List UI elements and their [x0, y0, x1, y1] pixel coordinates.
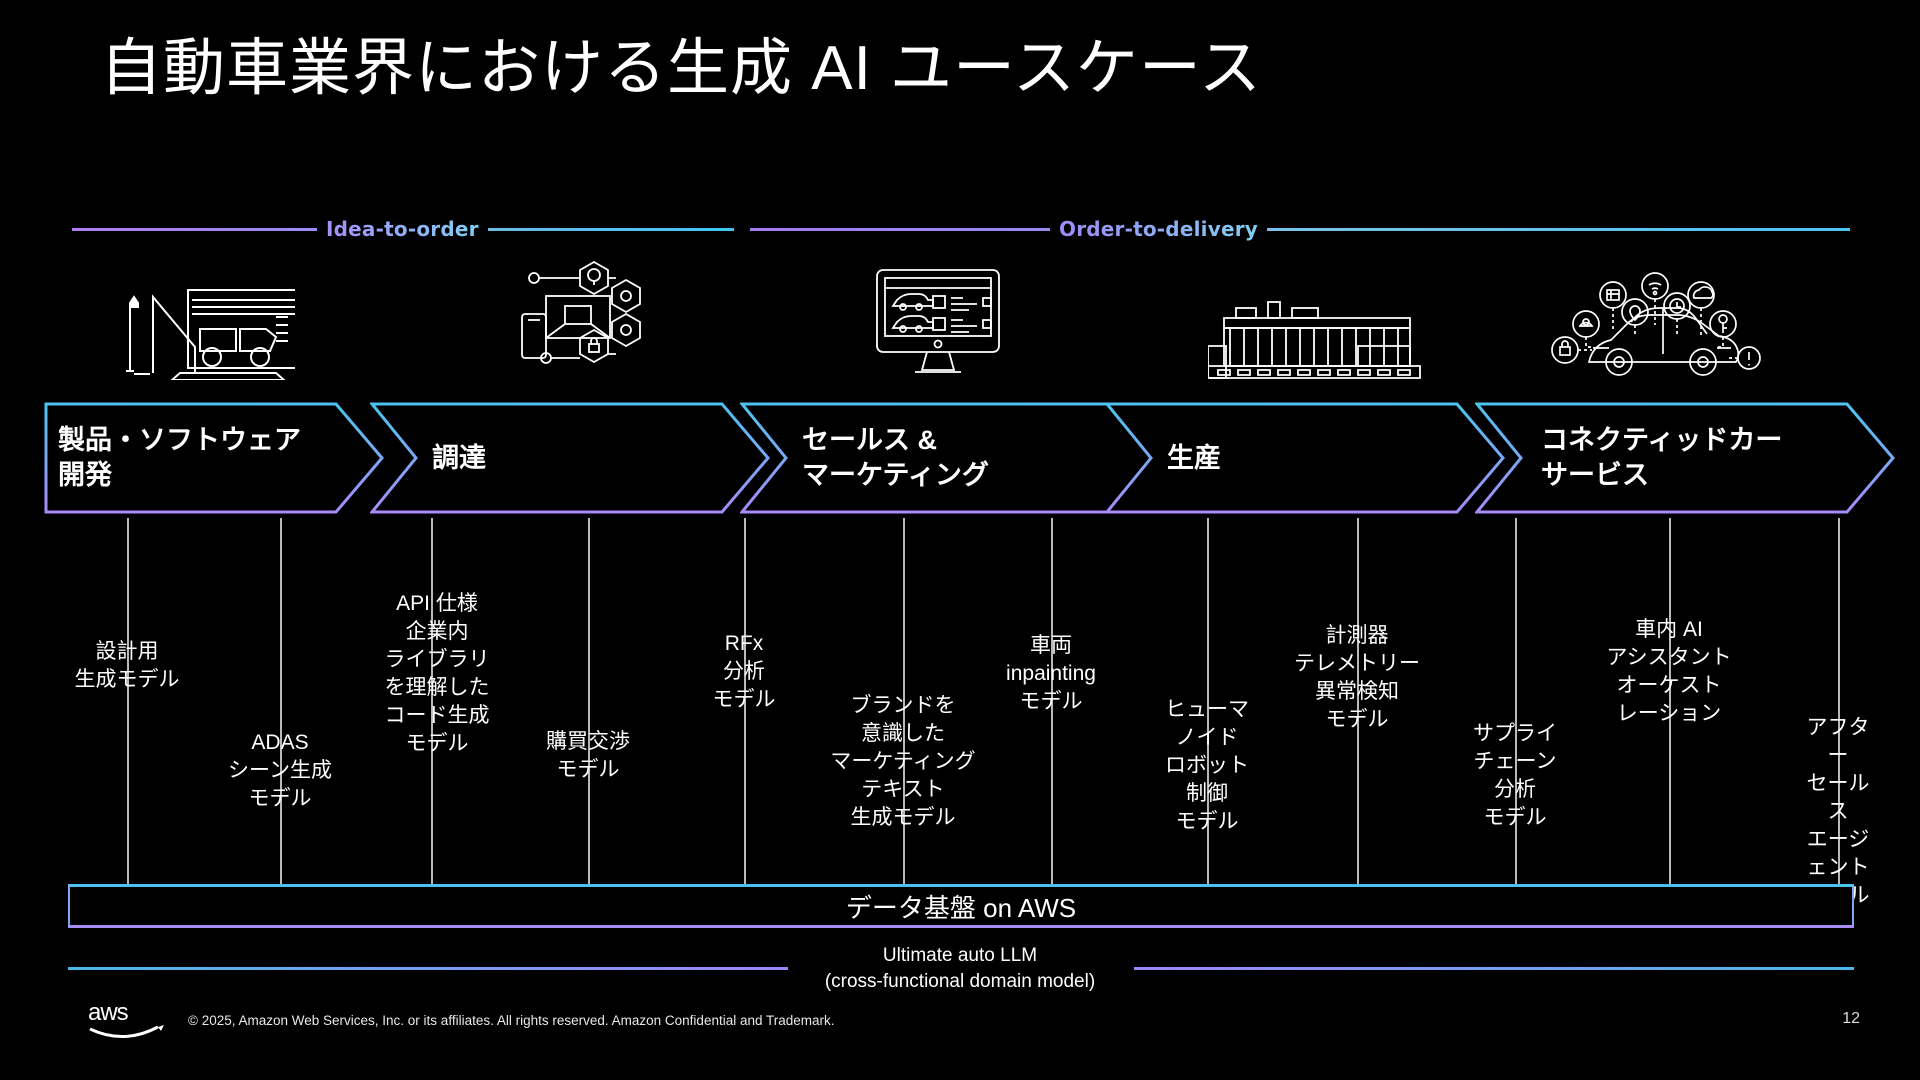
- bottom-rule-right: [1134, 967, 1854, 970]
- stage-chevron-4[interactable]: 生産: [1105, 402, 1505, 514]
- phase-rail-order-to-delivery: Order-to-delivery: [750, 216, 1850, 242]
- copyright-text: © 2025, Amazon Web Services, Inc. or its…: [188, 1013, 835, 1028]
- rail-line-left: [72, 228, 317, 231]
- factory-building-icon: [1208, 290, 1423, 385]
- use-case-label: RFx 分析 モデル: [713, 630, 776, 714]
- rail-line-right: [488, 228, 734, 231]
- svg-text:aws: aws: [88, 1000, 129, 1026]
- stage-chevron-5[interactable]: コネクティッドカー サービス: [1475, 402, 1895, 514]
- use-case-label: アフター セールス エージェント モデル: [1797, 714, 1879, 909]
- aws-logo: aws: [88, 1000, 166, 1047]
- data-platform-bar[interactable]: データ基盤 on AWS: [68, 884, 1854, 928]
- slide-canvas: 自動車業界における生成 AI ユースケース Idea-to-order Orde…: [0, 0, 1920, 1080]
- phase-label-order-to-delivery: Order-to-delivery: [1050, 217, 1267, 241]
- rail-line-left: [750, 228, 1050, 231]
- car-design-laptop-icon: [120, 255, 295, 380]
- page-title: 自動車業界における生成 AI ユースケース: [100, 30, 1262, 108]
- use-case-label: ADAS シーン生成 モデル: [228, 729, 332, 813]
- connector-line: [280, 518, 282, 884]
- use-case-label: 設計用 生成モデル: [75, 638, 180, 694]
- stage-chevron-2[interactable]: 調達: [370, 402, 770, 514]
- llm-caption: Ultimate auto LLM (cross-functional doma…: [825, 943, 1095, 994]
- use-case-label: ブランドを 意識した マーケティング テキスト 生成モデル: [830, 692, 975, 832]
- use-case-label: 車内 AI アシスタント オーケスト レーション: [1606, 616, 1731, 728]
- use-case-label: 購買交渉 モデル: [546, 728, 630, 784]
- rail-line-right: [1267, 228, 1850, 231]
- use-case-label: 車両 inpainting モデル: [1006, 632, 1096, 716]
- monitor-car-listing-icon: [875, 268, 1010, 383]
- bottom-rule-left: [68, 967, 788, 970]
- stage-chevron-row: 製品・ソフトウェア 開発 調達 セールス & マーケティング: [0, 402, 1920, 514]
- connected-devices-network-icon: [520, 258, 655, 383]
- connector-line: [127, 518, 129, 884]
- phase-rail-idea-to-order: Idea-to-order: [72, 216, 734, 242]
- data-platform-label: データ基盤 on AWS: [846, 888, 1076, 925]
- stage-label-4: 生産: [1167, 402, 1467, 514]
- stage-label-1: 製品・ソフトウェア 開発: [58, 402, 338, 514]
- stage-label-2: 調達: [432, 402, 732, 514]
- phase-label-idea-to-order: Idea-to-order: [317, 217, 488, 241]
- stage-label-5: コネクティッドカー サービス: [1541, 402, 1861, 514]
- use-case-label: 計測器 テレメトリー 異常検知 モデル: [1294, 622, 1420, 734]
- use-case-label: サプライ チェーン 分析 モデル: [1473, 720, 1557, 832]
- use-case-label: API 仕様 企業内 ライブラリ を理解した コード生成 モデル: [385, 590, 490, 758]
- use-case-label: ヒューマ ノイド ロボット 制御 モデル: [1165, 696, 1249, 836]
- stage-chevron-1[interactable]: 製品・ソフトウェア 開発: [44, 402, 384, 514]
- connected-car-icon: [1545, 262, 1785, 382]
- stage-label-3: セールス & マーケティング: [802, 402, 1122, 514]
- connector-line: [588, 518, 590, 884]
- page-number: 12: [1842, 1010, 1860, 1028]
